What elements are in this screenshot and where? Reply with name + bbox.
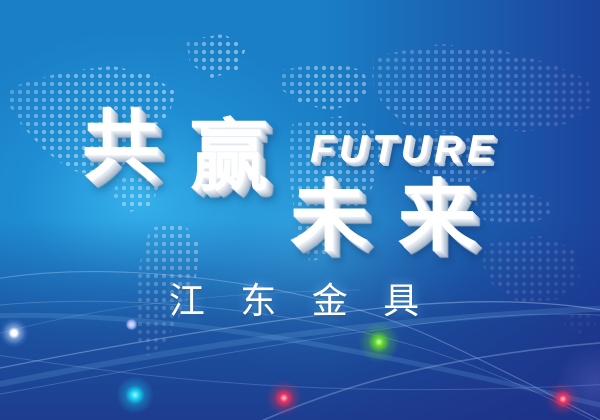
promo-banner: 共 赢 未 来 FUTURE 江 东 金 具	[0, 0, 600, 420]
headline-future-word: FUTURE	[310, 130, 498, 169]
headline-char-lai: 来	[398, 178, 476, 256]
headline-char-gong: 共	[82, 108, 160, 186]
headline-char-wei: 未	[290, 178, 368, 256]
company-name-subtitle: 江 东 金 具	[0, 272, 600, 324]
headline-char-ying: 赢	[190, 118, 268, 196]
